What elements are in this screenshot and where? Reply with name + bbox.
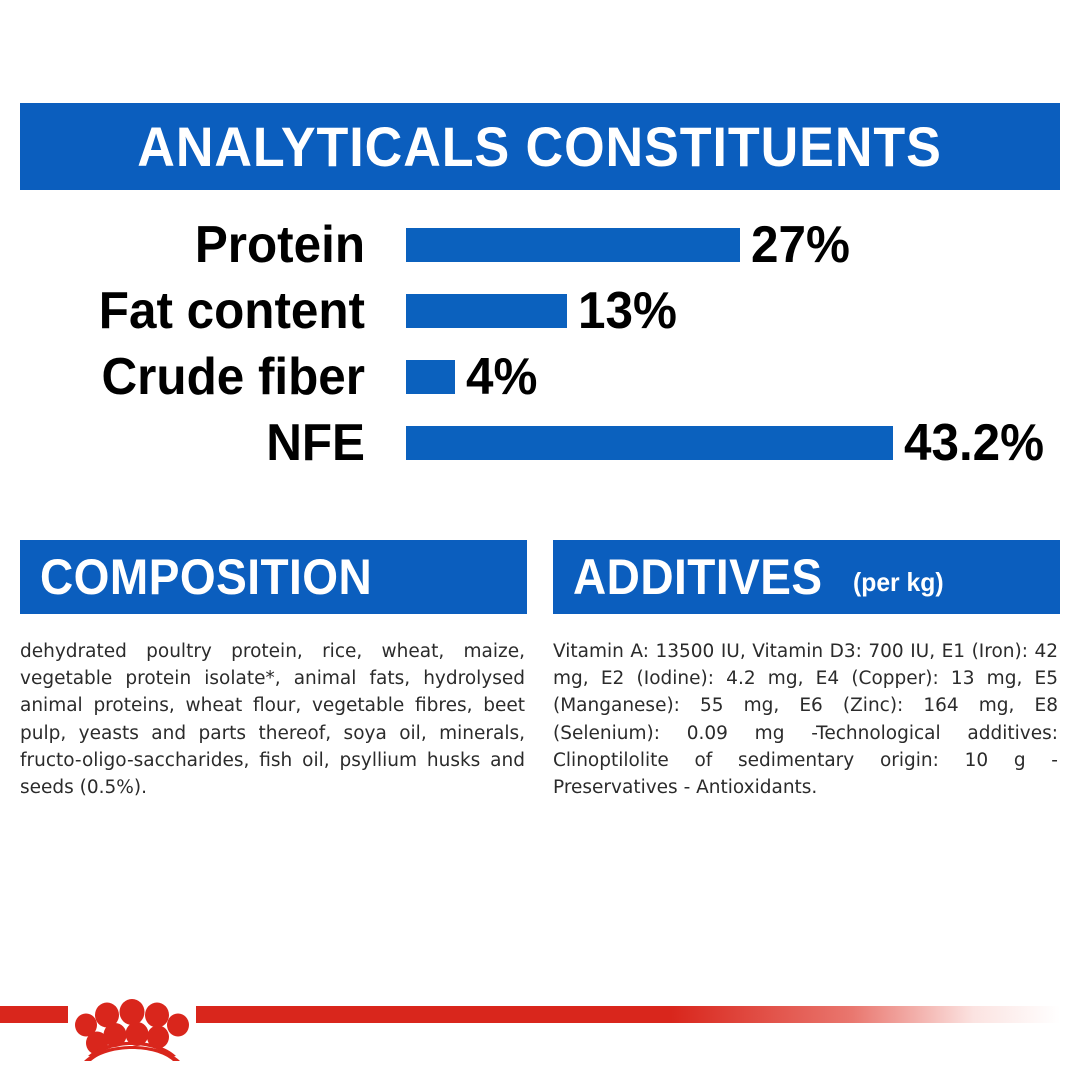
analytical-constituents-chart: Protein 27% Fat content 13% Crude fiber … xyxy=(0,212,1080,500)
chart-value-fat-content: 13% xyxy=(578,285,677,337)
chart-bar-fat-content xyxy=(406,294,567,328)
chart-bar-nfe xyxy=(406,426,893,460)
chart-bar-protein xyxy=(406,228,740,262)
footer xyxy=(0,985,1080,1080)
additives-subtitle: (per kg) xyxy=(853,569,944,595)
chart-label-protein: Protein xyxy=(18,219,365,271)
footer-rule-left xyxy=(0,1006,68,1023)
chart-row-fat-content: Fat content 13% xyxy=(0,278,1080,344)
chart-bar-group-nfe: 43.2% xyxy=(406,417,1051,469)
chart-bar-group-fat-content: 13% xyxy=(406,285,682,337)
chart-row-nfe: NFE 43.2% xyxy=(0,410,1080,476)
chart-bar-crude-fiber xyxy=(406,360,455,394)
composition-banner: COMPOSITION xyxy=(20,540,527,614)
chart-bar-group-crude-fiber: 4% xyxy=(406,351,541,403)
analytical-constituents-banner: ANALYTICALS CONSTITUENTS xyxy=(20,103,1060,190)
chart-row-crude-fiber: Crude fiber 4% xyxy=(0,344,1080,410)
chart-value-nfe: 43.2% xyxy=(904,417,1044,469)
additives-panel: ADDITIVES (per kg) Vitamin A: 13500 IU, … xyxy=(553,540,1060,801)
additives-title: ADDITIVES xyxy=(573,552,823,602)
chart-row-protein: Protein 27% xyxy=(0,212,1080,278)
chart-value-crude-fiber: 4% xyxy=(466,351,537,403)
chart-value-protein: 27% xyxy=(751,219,850,271)
page-title: ANALYTICALS CONSTITUENTS xyxy=(138,119,943,175)
footer-rule-right xyxy=(196,1006,1060,1023)
composition-text: dehydrated poultry protein, rice, wheat,… xyxy=(20,638,527,801)
chart-label-fat-content: Fat content xyxy=(18,285,365,337)
chart-label-nfe: NFE xyxy=(18,417,365,469)
chart-bar-group-protein: 27% xyxy=(406,219,855,271)
royal-canin-crown-logo xyxy=(70,985,194,1063)
additives-banner: ADDITIVES (per kg) xyxy=(553,540,1060,614)
additives-text: Vitamin A: 13500 IU, Vitamin D3: 700 IU,… xyxy=(553,638,1060,801)
chart-label-crude-fiber: Crude fiber xyxy=(18,351,365,403)
nutrition-label-page: ANALYTICALS CONSTITUENTS Protein 27% Fat… xyxy=(0,0,1080,1080)
composition-panel: COMPOSITION dehydrated poultry protein, … xyxy=(20,540,527,801)
composition-title: COMPOSITION xyxy=(40,552,372,602)
